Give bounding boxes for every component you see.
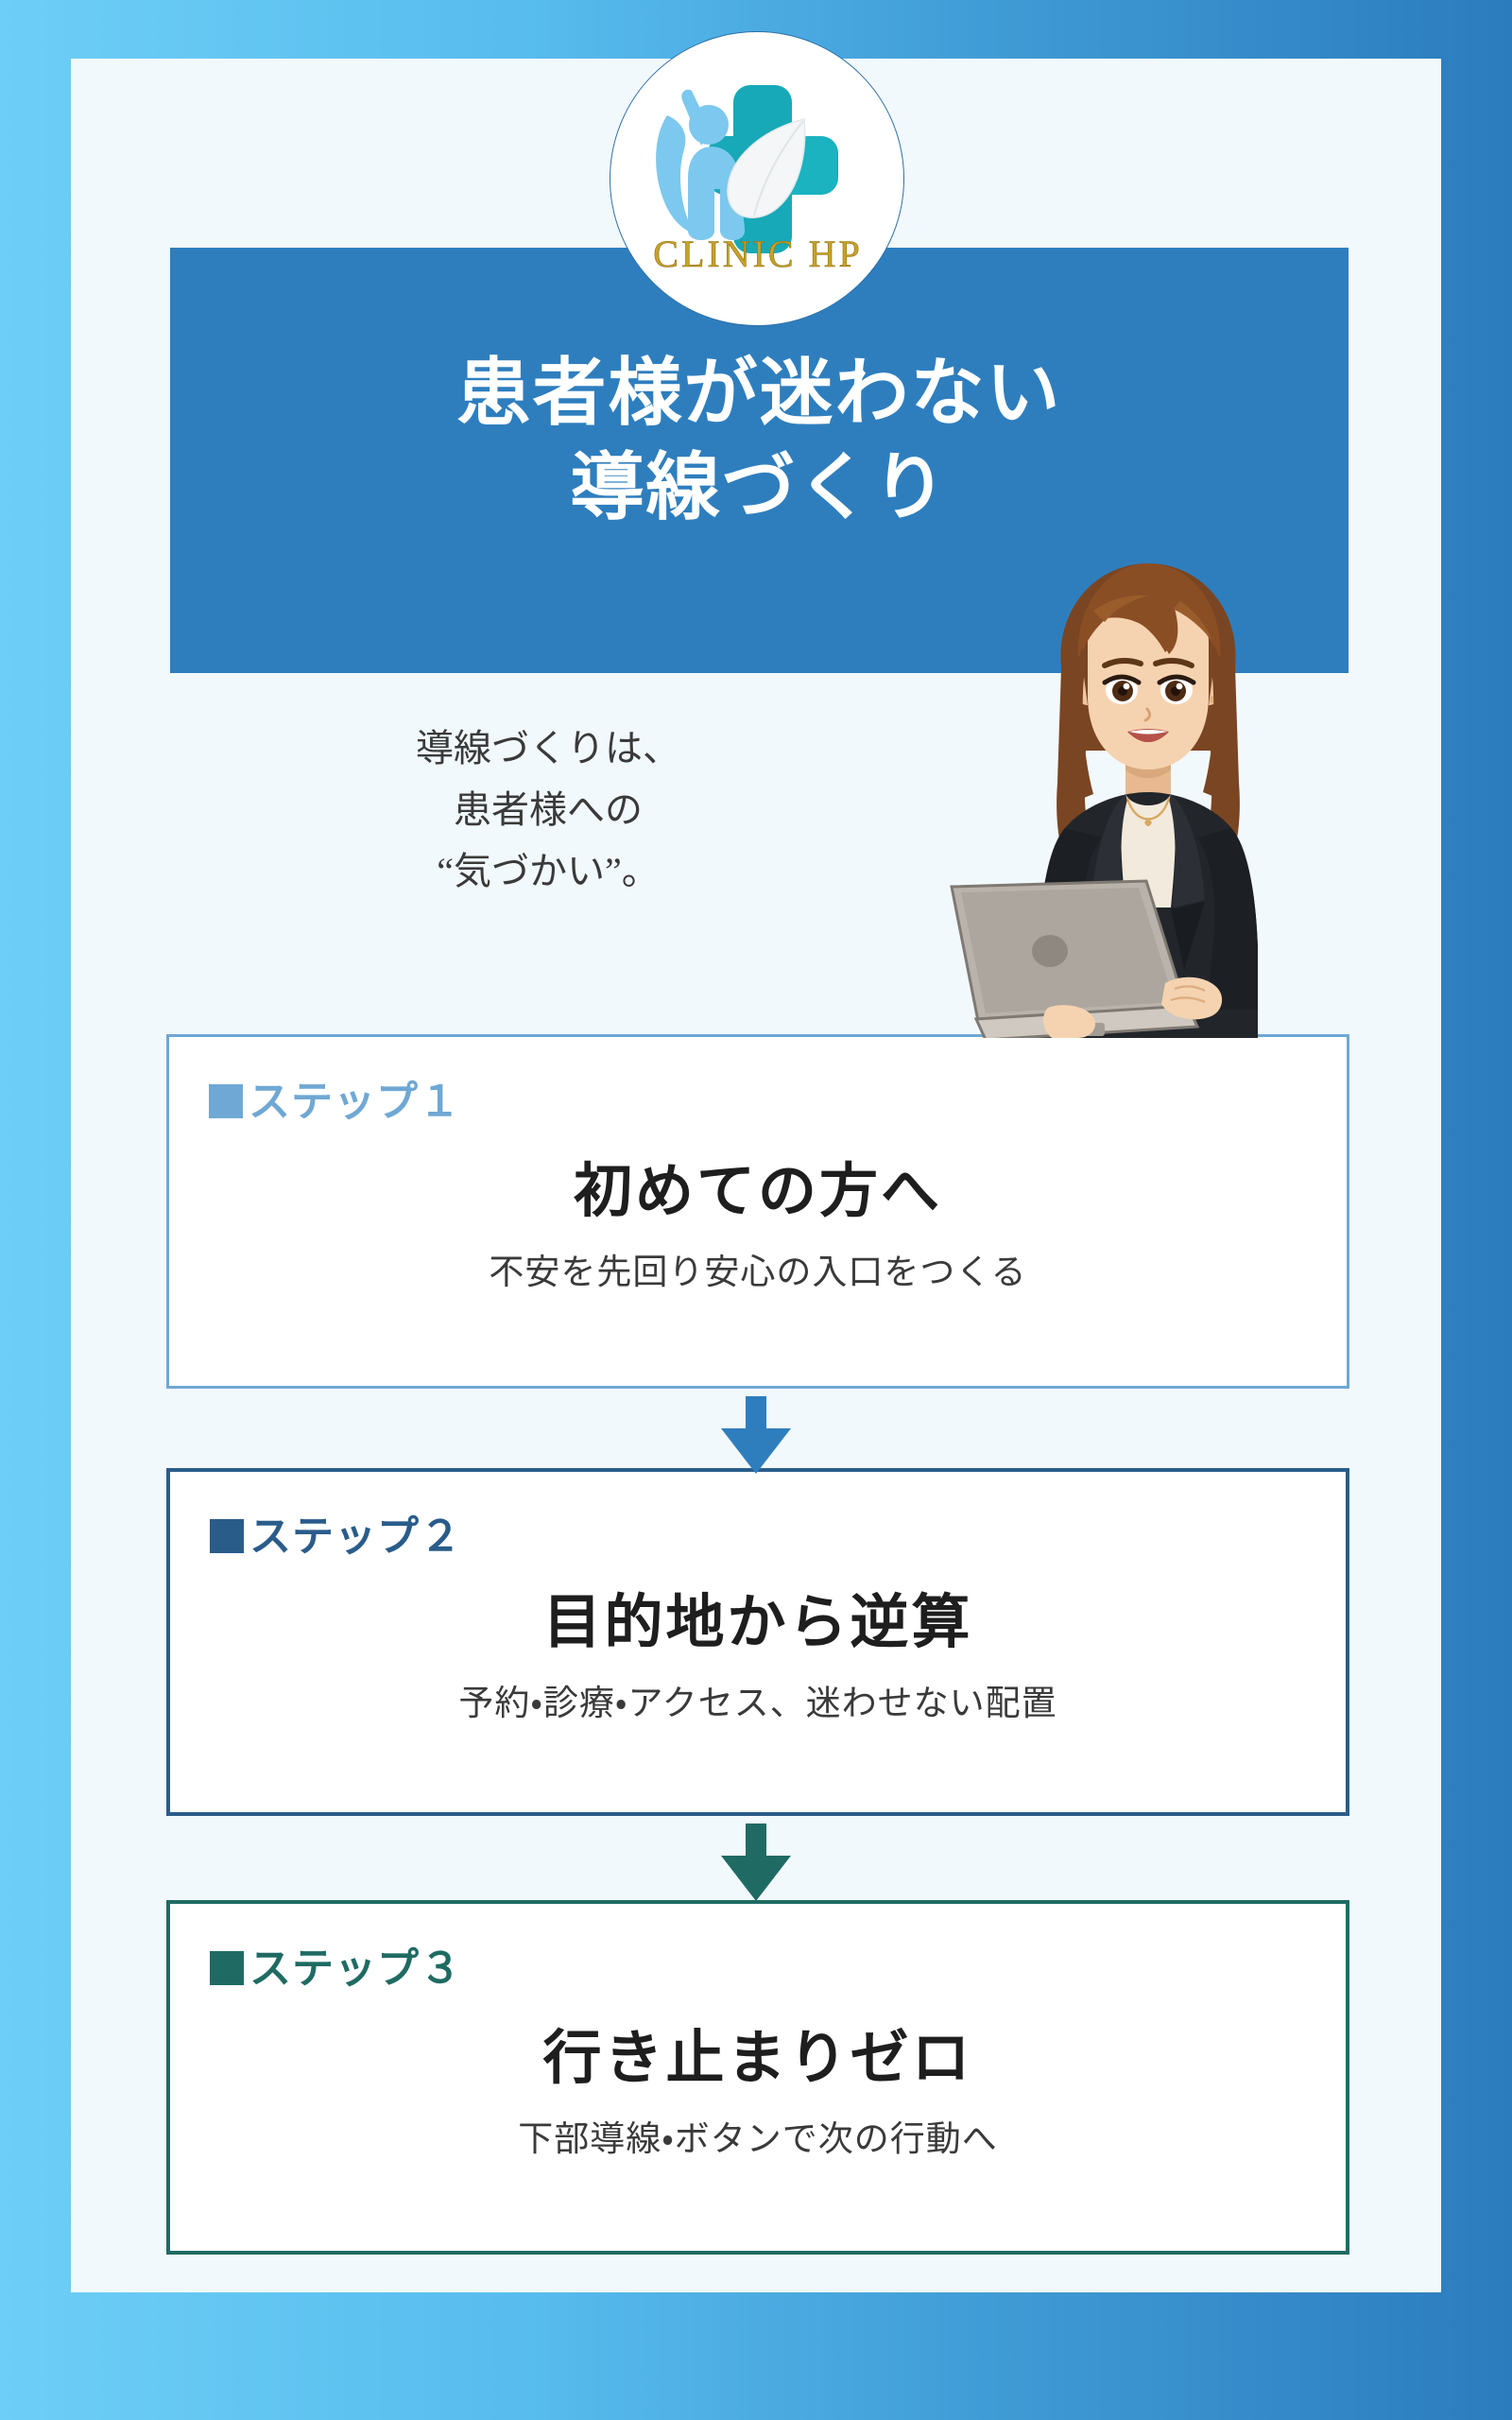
businesswoman-with-laptop-illustration	[950, 556, 1347, 1038]
square-bullet-icon	[210, 1519, 244, 1553]
step-title-3: 行き止まりゼロ	[170, 2010, 1346, 2095]
step-desc-1: 不安を先回り安心の入口をつくる	[169, 1243, 1347, 1294]
square-bullet-icon	[209, 1084, 243, 1118]
subtitle-line-1: 導線づくりは、	[283, 718, 813, 780]
subtitle-line-3: “気づかい”。	[283, 841, 813, 903]
step-card-2: ステップ２ 目的地から逆算 予約・診療・アクセス、迷わせない配置	[166, 1468, 1349, 1816]
step-card-3: ステップ３ 行き止まりゼロ 下部導線・ボタンで次の行動へ	[166, 1900, 1349, 2255]
step-desc-3: 下部導線・ボタンで次の行動へ	[170, 2110, 1346, 2161]
title-line-2: 導線づくり	[170, 441, 1349, 535]
step-label-text-2: ステップ２	[249, 1513, 462, 1560]
down-arrow-step2-to-step3	[704, 1824, 808, 1905]
subtitle-block: 導線づくりは、 患者様への “気づかい”。	[283, 718, 813, 902]
step-title-2: 目的地から逆算	[170, 1574, 1346, 1659]
logo-wordmark: CLINIC HP	[653, 233, 862, 275]
step-title-1: 初めての方へ	[169, 1143, 1347, 1228]
step-label-3: ステップ３	[210, 1934, 462, 1995]
step-label-text-1: ステップ１	[249, 1079, 461, 1125]
step-label-2: ステップ２	[210, 1502, 462, 1563]
person-raising-arm-icon	[656, 90, 745, 240]
square-bullet-icon	[210, 1951, 244, 1985]
step-card-1: ステップ１ 初めての方へ 不安を先回り安心の入口をつくる	[166, 1034, 1349, 1389]
page-title: 患者様が迷わない 導線づくり	[170, 346, 1349, 535]
step-label-1: ステップ１	[209, 1067, 461, 1128]
down-arrow-step1-to-step2	[704, 1396, 808, 1478]
clinic-logo-badge: CLINIC HP	[610, 31, 904, 326]
infographic-poster: CLINIC HP 患者様が迷わない 導線づくり 導線づくりは、 患者様への “…	[0, 0, 1512, 2420]
subtitle-line-2: 患者様への	[283, 780, 813, 841]
step-desc-2: 予約・診療・アクセス、迷わせない配置	[170, 1674, 1346, 1725]
title-line-1: 患者様が迷わない	[170, 346, 1349, 441]
step-label-text-3: ステップ３	[249, 1945, 462, 1992]
